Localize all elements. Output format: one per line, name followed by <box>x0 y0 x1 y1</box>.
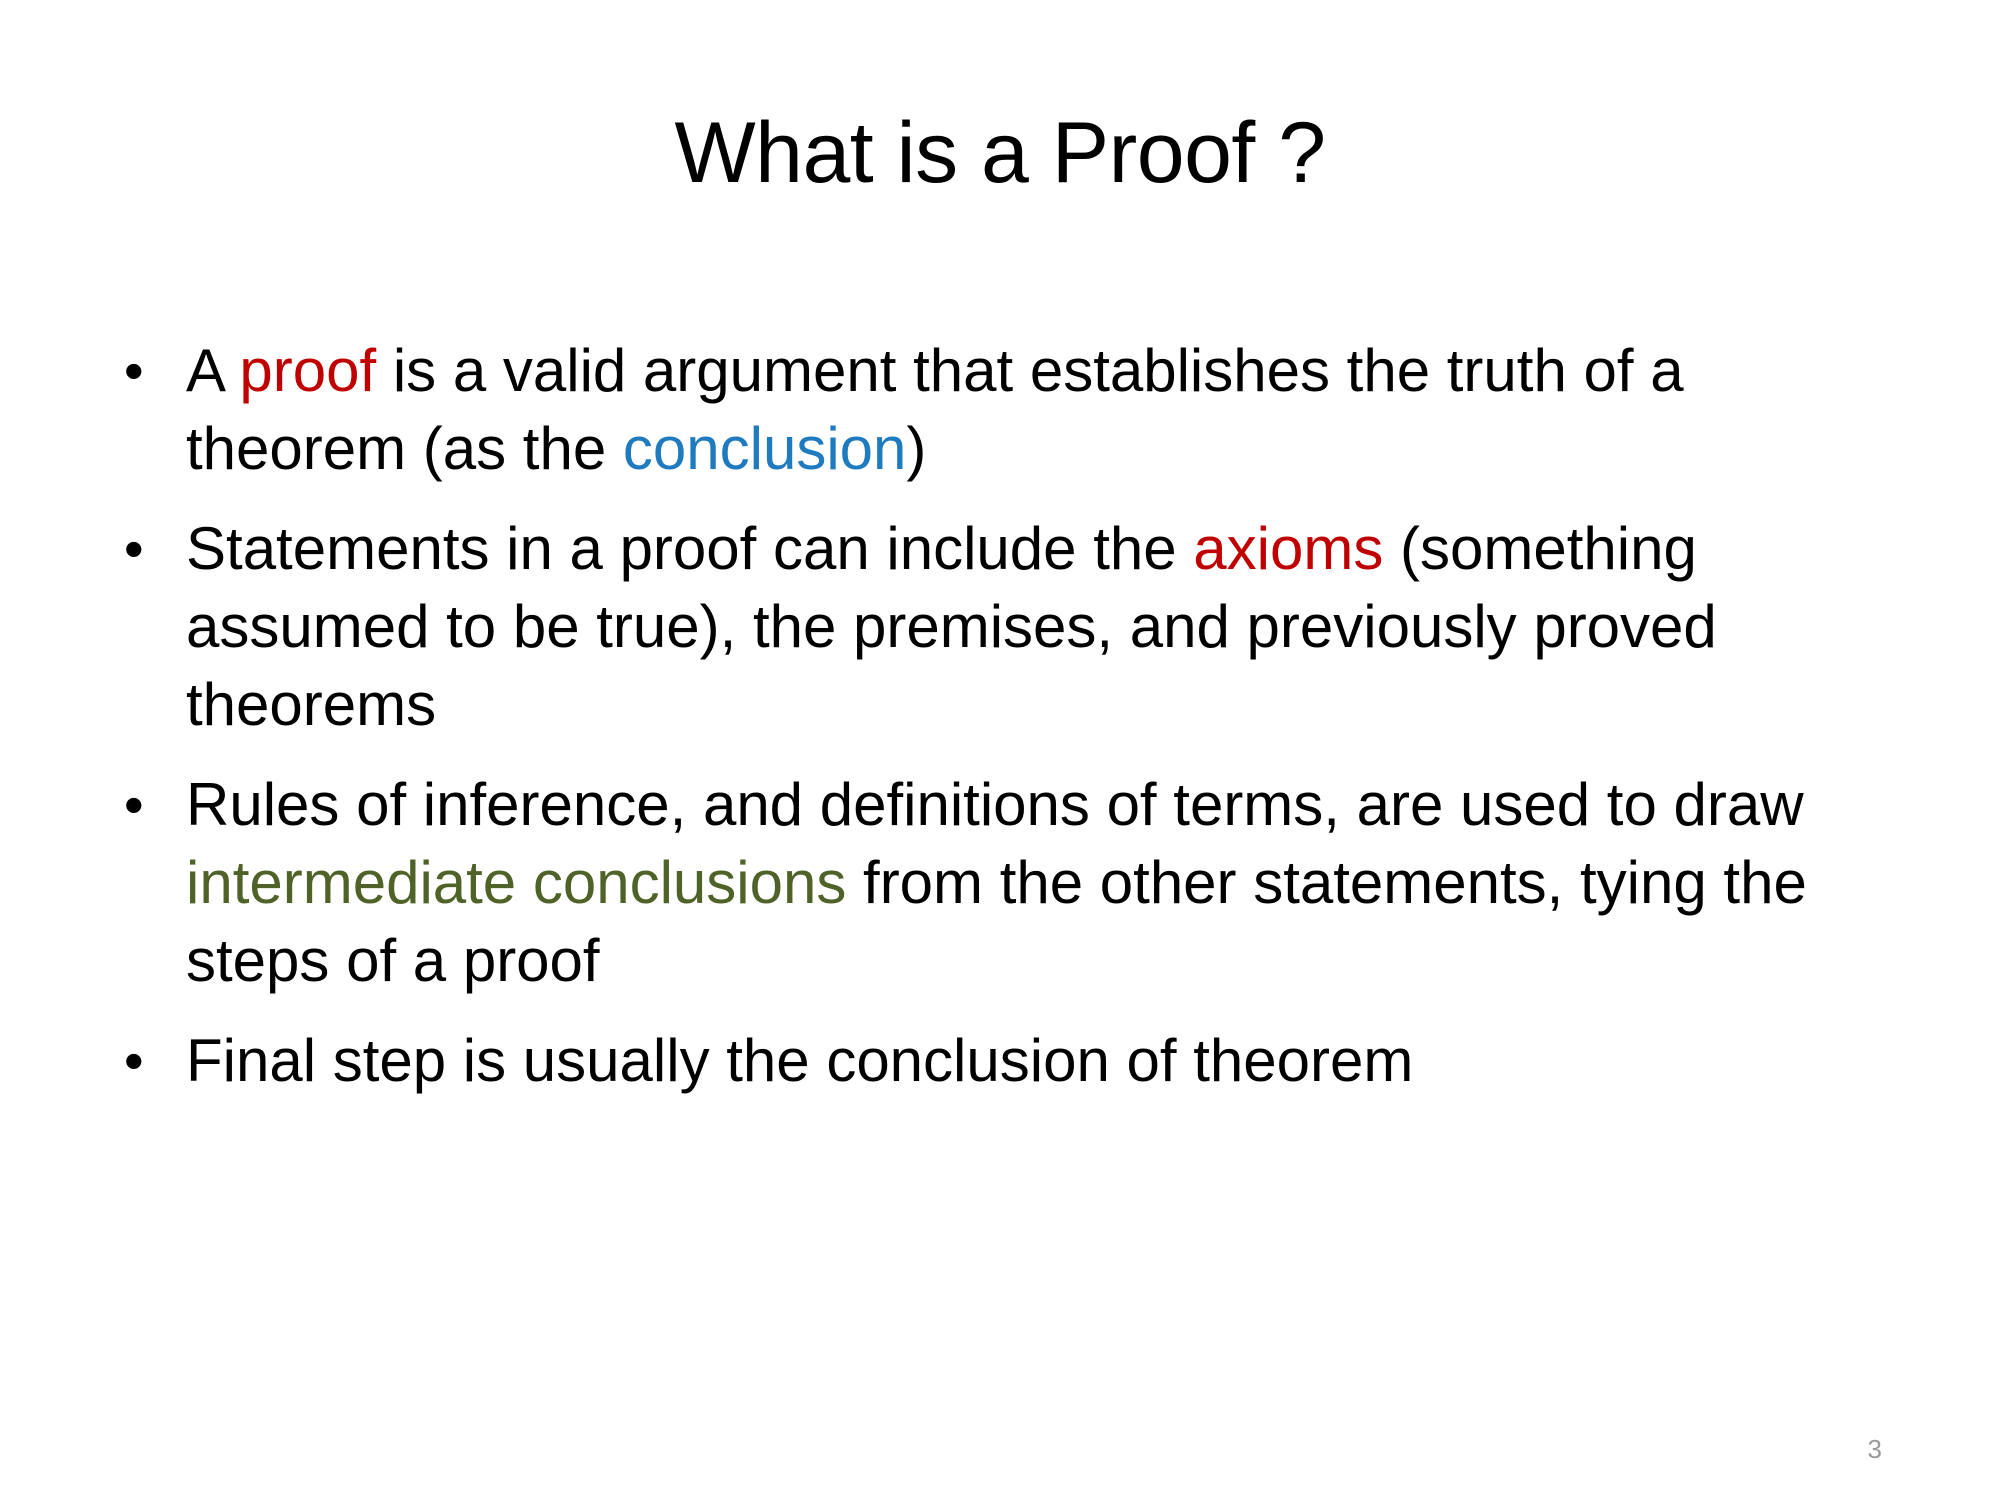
slide: What is a Proof ? •A proof is a valid ar… <box>0 0 2000 1500</box>
text-run: ) <box>906 415 926 482</box>
list-item: •Final step is usually the conclusion of… <box>108 1022 1908 1100</box>
bullet-dot-icon: • <box>108 1022 186 1100</box>
text-run: is a valid argument that establishes the… <box>186 337 1684 482</box>
bullet-final-step: Final step is usually the conclusion of … <box>186 1022 1846 1100</box>
highlight-term-green: intermediate conclusions <box>186 849 846 916</box>
list-item: •A proof is a valid argument that establ… <box>108 332 1908 488</box>
highlight-term-red: axioms <box>1193 515 1383 582</box>
highlight-term-blue: conclusion <box>623 415 907 482</box>
text-run: A <box>186 337 239 404</box>
text-run: Statements in a proof can include the <box>186 515 1193 582</box>
bullet-rules-of-inference: Rules of inference, and definitions of t… <box>186 766 1846 1000</box>
bullet-proof-definition: A proof is a valid argument that establi… <box>186 332 1846 488</box>
page-title: What is a Proof ? <box>0 108 2000 198</box>
highlight-term-red: proof <box>239 337 376 404</box>
list-item: •Rules of inference, and definitions of … <box>108 766 1908 1000</box>
bullet-statements-axioms: Statements in a proof can include the ax… <box>186 510 1846 744</box>
page-number: 3 <box>1868 1436 1882 1462</box>
text-run: Final step is usually the conclusion of … <box>186 1027 1413 1094</box>
bullet-list: •A proof is a valid argument that establ… <box>108 332 1908 1122</box>
bullet-dot-icon: • <box>108 510 186 588</box>
text-run: Rules of inference, and definitions of t… <box>186 771 1804 838</box>
list-item: •Statements in a proof can include the a… <box>108 510 1908 744</box>
bullet-dot-icon: • <box>108 766 186 844</box>
bullet-dot-icon: • <box>108 332 186 410</box>
